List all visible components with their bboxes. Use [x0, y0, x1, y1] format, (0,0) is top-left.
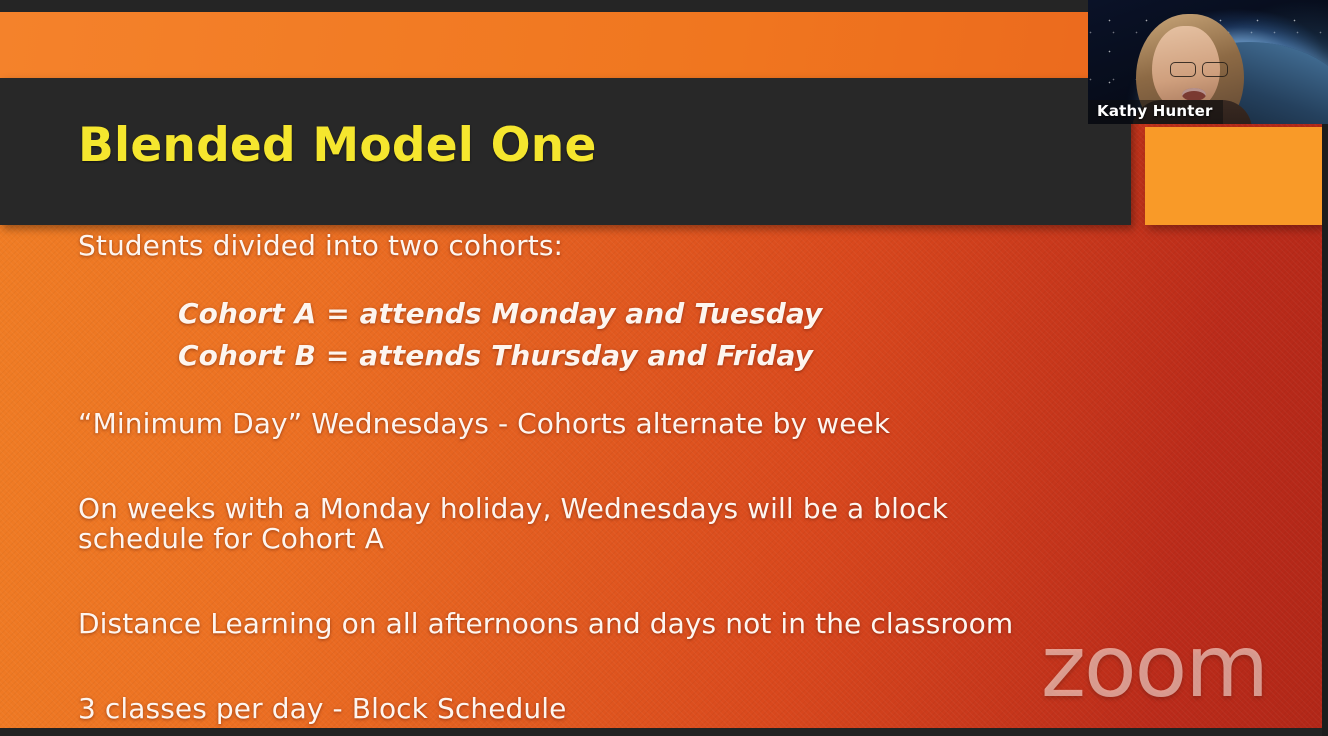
- participant-video-thumbnail[interactable]: Kathy Hunter: [1088, 0, 1328, 124]
- figure-face: [1152, 26, 1220, 110]
- bullet-classes-per-day: 3 classes per day - Block Schedule: [78, 694, 566, 724]
- bullet-distance-learning: Distance Learning on all afternoons and …: [78, 609, 1013, 639]
- bullet-minimum-day: “Minimum Day” Wednesdays - Cohorts alter…: [78, 409, 890, 439]
- bullet-cohort-b: Cohort B = attends Thursday and Friday: [178, 341, 813, 371]
- glasses-icon: [1170, 62, 1234, 76]
- zoom-shared-screen: Blended Model One Students divided into …: [0, 0, 1328, 736]
- bottom-dark-band: [0, 728, 1328, 736]
- participant-name-label: Kathy Hunter: [1088, 100, 1223, 124]
- bullet-monday-holiday: On weeks with a Monday holiday, Wednesda…: [78, 494, 1068, 553]
- bullet-cohort-a: Cohort A = attends Monday and Tuesday: [178, 299, 822, 329]
- bullet-intro: Students divided into two cohorts:: [78, 231, 563, 261]
- zoom-watermark-logo: zoom: [1041, 624, 1267, 710]
- slide-title: Blended Model One: [78, 118, 597, 173]
- accent-rectangle: [1145, 127, 1322, 225]
